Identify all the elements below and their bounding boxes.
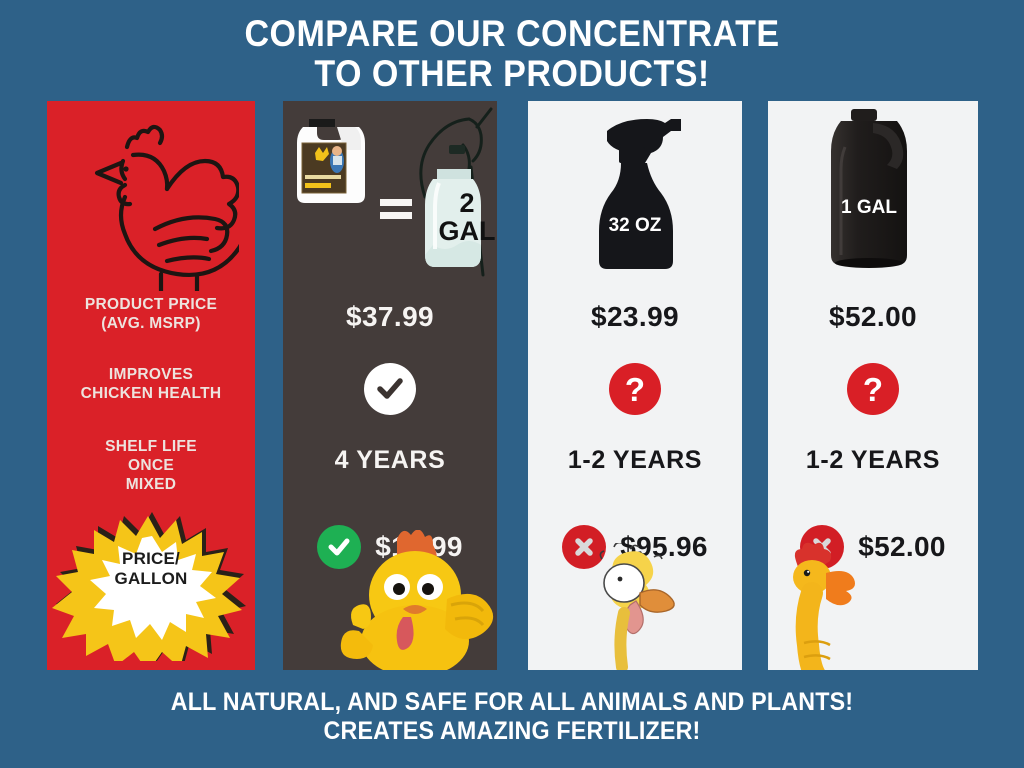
footer-line-1: ALL NATURAL, AND SAFE FOR ALL ANIMALS AN… xyxy=(36,688,988,717)
ours-product-visual: 2 GAL xyxy=(283,101,497,291)
price-per-gallon-burst: PRICE/ GALLON xyxy=(51,505,251,661)
row-label-shelf-life-line3: MIXED xyxy=(47,476,255,495)
spray-bottle-icon: 32 OZ xyxy=(573,107,697,290)
footer-line-2: CREATES AMAZING FERTILIZER! xyxy=(36,717,988,746)
happy-thumbs-up-chicken xyxy=(331,530,497,670)
row-label-chicken-health: IMPROVES CHICKEN HEALTH xyxy=(47,366,255,404)
row-label-shelf-life-line1: SHELF LIFE xyxy=(47,438,255,457)
title-line-1: COMPARE OUR CONCENTRATE xyxy=(41,14,983,54)
page-title: COMPARE OUR CONCENTRATE TO OTHER PRODUCT… xyxy=(0,14,1024,94)
gallon-jug-icon: 1 GAL xyxy=(815,107,931,284)
product-column-ours: 2 GAL $37.99 4 YEARS $18.99 xyxy=(283,101,497,670)
competitor-b-product-visual: 1 GAL 1 GAL xyxy=(768,101,978,291)
competitor-b-shelf-life: 1-2 YEARS xyxy=(768,446,978,475)
row-label-product-price: PRODUCT PRICE (AVG. MSRP) xyxy=(47,296,255,334)
competitor-a-product-visual: 32 OZ 32 OZ xyxy=(528,101,742,291)
ours-mascot xyxy=(283,530,497,670)
burst-line-1: PRICE/ xyxy=(51,549,251,569)
competitor-a-mascot xyxy=(528,530,742,670)
competitor-b-mascot xyxy=(768,530,978,670)
product-column-competitor-b: 1 GAL 1 GAL $52.00 ? 1-2 YEARS $52.00 xyxy=(768,101,978,670)
row-label-shelf-life-line2: ONCE xyxy=(47,457,255,476)
ours-health-check-icon xyxy=(364,363,416,415)
product-column-competitor-a: 32 OZ 32 OZ $23.99 ? 1-2 YEARS $95.96 xyxy=(528,101,742,670)
footer-tagline: ALL NATURAL, AND SAFE FOR ALL ANIMALS AN… xyxy=(0,688,1024,746)
chicken-line-icon xyxy=(63,111,239,296)
row-label-product-price-line2: (AVG. MSRP) xyxy=(47,315,255,334)
concentrate-jug-photo xyxy=(289,109,375,214)
competitor-a-question-icon: ? xyxy=(609,363,661,415)
yellow-rubber-chicken xyxy=(774,539,866,670)
row-label-chicken-health-line1: IMPROVES xyxy=(47,366,255,385)
price-per-gallon-burst-text: PRICE/ GALLON xyxy=(51,549,251,589)
row-label-chicken-health-line2: CHICKEN HEALTH xyxy=(47,385,255,404)
row-label-shelf-life: SHELF LIFE ONCE MIXED xyxy=(47,438,255,495)
dizzy-cartoon-chicken xyxy=(584,543,694,670)
ours-price: $37.99 xyxy=(283,301,497,333)
ours-shelf-life: 4 YEARS xyxy=(283,446,497,475)
competitor-a-question-glyph: ? xyxy=(625,373,645,406)
ours-size-label: 2 GAL xyxy=(431,189,497,246)
competitor-b-question-glyph: ? xyxy=(863,373,883,406)
competitor-b-size-label-text: 1 GAL xyxy=(841,197,897,218)
competitor-b-price: $52.00 xyxy=(768,301,978,333)
competitor-a-size-label-text: 32 OZ xyxy=(609,215,662,236)
row-label-product-price-line1: PRODUCT PRICE xyxy=(47,296,255,315)
infographic-canvas: COMPARE OUR CONCENTRATE TO OTHER PRODUCT… xyxy=(0,0,1024,768)
competitor-b-question-icon: ? xyxy=(847,363,899,415)
title-line-2: TO OTHER PRODUCTS! xyxy=(41,54,983,94)
labels-column: PRODUCT PRICE (AVG. MSRP) IMPROVES CHICK… xyxy=(47,101,255,670)
burst-line-2: GALLON xyxy=(51,569,251,589)
competitor-a-price: $23.99 xyxy=(528,301,742,333)
competitor-a-shelf-life: 1-2 YEARS xyxy=(528,446,742,475)
